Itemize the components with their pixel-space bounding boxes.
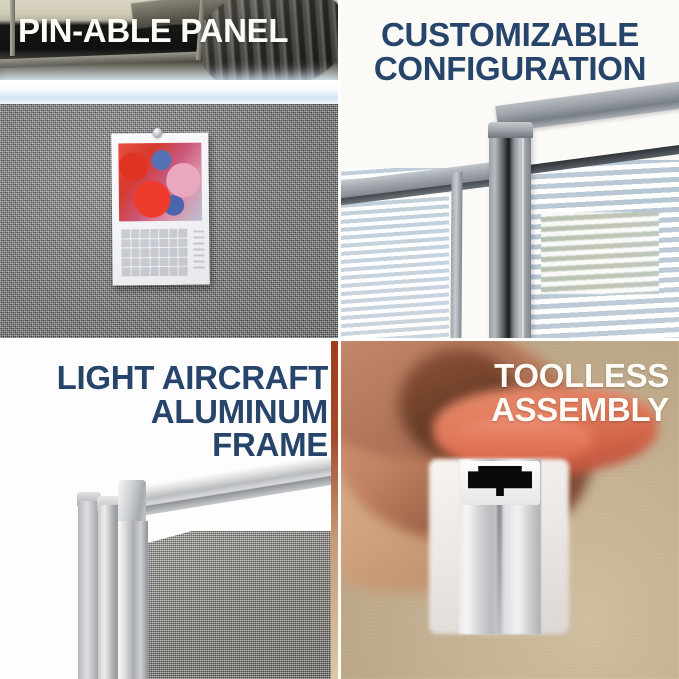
aluminum-corner-post [489,130,531,338]
panel-customizable-configuration: CUSTOMIZABLE CONFIGURATION [341,0,679,338]
calendar-vertical-text [193,231,204,273]
main-corner-post [118,521,148,679]
ceiling-pipe-left [10,0,15,56]
extrusion-center-groove [497,496,502,634]
panel-toolless-assembly: TOOLLESS ASSEMBLY [341,341,679,679]
post-top-cap [488,122,533,138]
calendar-artwork [118,143,202,222]
caption-light-aircraft-aluminum-frame: LIGHT AIRCRAFT ALUMINUM FRAME [10,361,328,462]
calendar-date-grid [121,229,187,277]
rear-post [78,501,100,679]
post-groove-dark [507,134,510,338]
panel-light-aircraft-aluminum-frame: LIGHT AIRCRAFT ALUMINUM FRAME [0,341,338,679]
horizontal-divider [0,338,679,341]
panel-pin-able-panel: PIN-ABLE PANEL [0,0,338,338]
caption-toolless-assembly: TOOLLESS ASSEMBLY [351,359,669,426]
caption-customizable-configuration: CUSTOMIZABLE CONFIGURATION [351,18,669,85]
middle-post [98,505,120,679]
pinned-calendar [111,132,210,285]
pin-able-panel-photo [0,0,338,338]
fabric-panel-insert [148,531,338,679]
post-groove-highlight [522,134,524,338]
feature-collage: PIN-ABLE PANEL CUSTOMIZABLE CONFIGURATIO… [0,0,679,679]
adjacent-panel-edge [331,341,338,679]
push-pin-icon [153,128,162,137]
caption-pin-able-panel: PIN-ABLE PANEL [18,14,288,48]
aluminum-mullion [450,172,462,338]
window-view-through-blinds [541,212,659,294]
